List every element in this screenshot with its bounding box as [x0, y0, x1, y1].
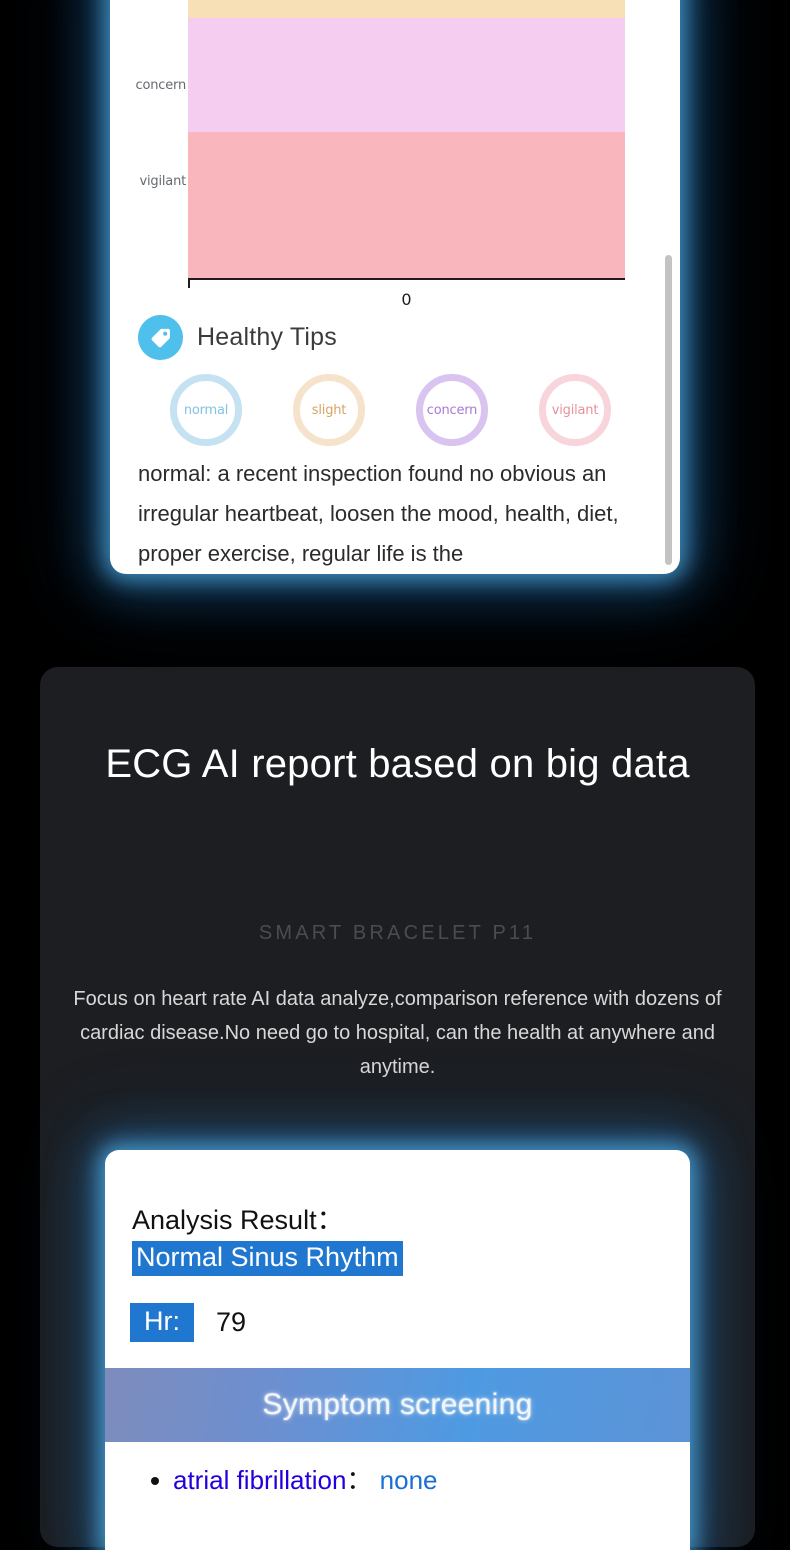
heart-rate-trend-chart: slight concern vigilant 0	[110, 0, 680, 290]
y-axis-tick-vigilant: vigilant	[110, 174, 186, 189]
chart-x-axis-tick	[188, 278, 190, 288]
ecg-analysis-report-card: Analysis Result： Normal Sinus Rhythm Sym…	[105, 1150, 690, 1550]
healthy-tips-header: Healthy Tips	[138, 315, 337, 360]
status-label-concern: concern	[427, 403, 477, 418]
status-ring-concern[interactable]: concern	[416, 374, 488, 446]
healthy-tips-body: normal: a recent inspection found no obv…	[138, 454, 658, 574]
symptom-name: atrial fibrillation	[173, 1465, 346, 1495]
status-label-slight: slight	[312, 403, 346, 418]
heart-rate-badge: Hr:	[130, 1303, 194, 1342]
status-legend: normal slight concern vigilant	[170, 374, 670, 446]
chart-band-vigilant	[188, 132, 625, 278]
status-ring-slight[interactable]: slight	[293, 374, 365, 446]
tag-icon	[138, 315, 183, 360]
section-subtitle: SMART BRACELET P11	[40, 922, 755, 945]
vertical-scrollbar[interactable]	[665, 255, 672, 565]
chart-x-axis-line	[188, 278, 625, 280]
symptom-screening-band: Symptom screening	[105, 1368, 690, 1442]
x-axis-tick-label: 0	[188, 290, 625, 309]
list-item: atrial fibrillation： none	[173, 1460, 438, 1500]
section-heading: ECG AI report based on big data	[40, 735, 755, 793]
status-label-normal: normal	[184, 403, 228, 418]
healthy-tips-title: Healthy Tips	[197, 323, 337, 352]
chart-band-slight	[188, 0, 625, 18]
chart-plot-area	[188, 0, 625, 278]
section-paragraph: Focus on heart rate AI data analyze,comp…	[65, 982, 730, 1084]
symptom-screening-title: Symptom screening	[262, 1388, 532, 1422]
analysis-result-value: Normal Sinus Rhythm	[132, 1241, 403, 1276]
status-label-vigilant: vigilant	[552, 403, 598, 418]
symptom-value: none	[380, 1465, 438, 1495]
analysis-result-block: Analysis Result： Normal Sinus Rhythm	[132, 1198, 403, 1276]
chart-band-concern	[188, 18, 625, 132]
symptom-colon: ：	[346, 1465, 372, 1495]
health-report-card: slight concern vigilant 0 Healthy Tips n…	[110, 0, 680, 574]
heart-rate-value: 79	[216, 1307, 246, 1338]
analysis-result-label: Analysis Result：	[132, 1198, 403, 1237]
status-ring-normal[interactable]: normal	[170, 374, 242, 446]
status-ring-vigilant[interactable]: vigilant	[539, 374, 611, 446]
heart-rate-row: Hr: 79	[130, 1303, 246, 1342]
y-axis-tick-concern: concern	[110, 78, 186, 93]
symptom-list: atrial fibrillation： none	[145, 1460, 438, 1500]
